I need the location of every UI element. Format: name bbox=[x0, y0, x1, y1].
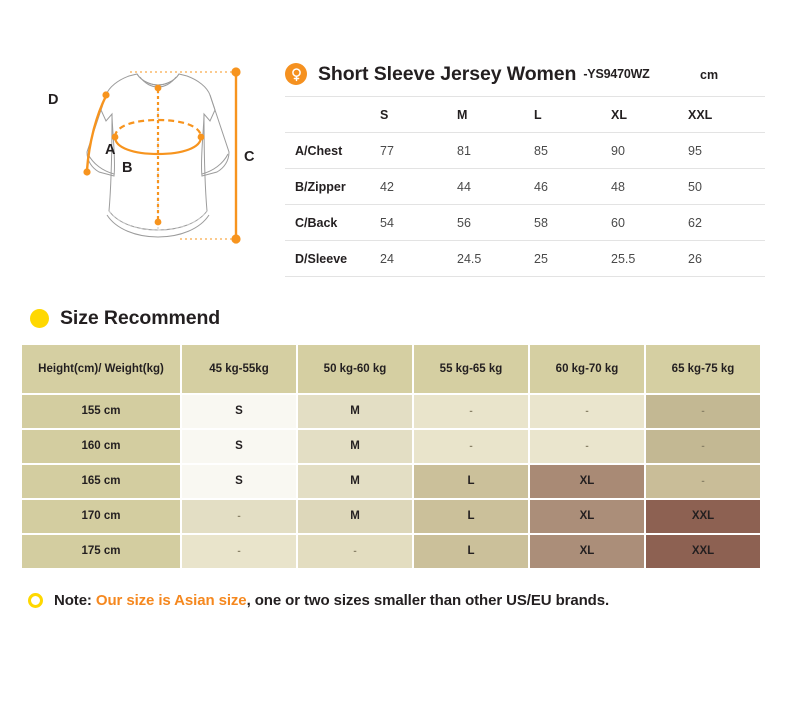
grid-cell-170-55: L bbox=[414, 500, 528, 533]
cell-sleeve-xxl: 26 bbox=[688, 241, 765, 277]
grid-cell-170-45: - bbox=[182, 500, 296, 533]
row-label-zipper: B/Zipper bbox=[285, 169, 380, 205]
grid-cell-165-65: - bbox=[646, 465, 760, 498]
size-recommend-heading: Size Recommend bbox=[30, 307, 220, 330]
grid-cell-160-50: M bbox=[298, 430, 412, 463]
cell-chest-xl: 90 bbox=[611, 133, 688, 169]
cell-chest-l: 85 bbox=[534, 133, 611, 169]
cell-back-s: 54 bbox=[380, 205, 457, 241]
yellow-ring-icon bbox=[28, 593, 43, 608]
grid-cell-165-50: M bbox=[298, 465, 412, 498]
cell-sleeve-xl: 25.5 bbox=[611, 241, 688, 277]
table-row: C/Back 54 56 58 60 62 bbox=[285, 205, 765, 241]
note-row: Note: Our size is Asian size, one or two… bbox=[28, 592, 609, 609]
diagram-label-a: A bbox=[105, 142, 116, 158]
row-label-sleeve: D/Sleeve bbox=[285, 241, 380, 277]
unit-label: cm bbox=[700, 68, 718, 82]
column-header-l: L bbox=[534, 97, 611, 133]
cell-chest-xxl: 95 bbox=[688, 133, 765, 169]
grid-cell-155-60: - bbox=[530, 395, 644, 428]
table-row: B/Zipper 42 44 46 48 50 bbox=[285, 169, 765, 205]
spec-title-row: Short Sleeve Jersey Women -YS9470WZ cm bbox=[285, 52, 765, 96]
size-recommend-grid: Height(cm)/ Weight(kg) 45 kg-55kg 50 kg-… bbox=[22, 345, 768, 568]
grid-height-label-155: 155 cm bbox=[22, 395, 180, 428]
cell-back-m: 56 bbox=[457, 205, 534, 241]
grid-cell-165-45: S bbox=[182, 465, 296, 498]
grid-cell-155-45: S bbox=[182, 395, 296, 428]
table-header-row: S M L XL XXL bbox=[285, 97, 765, 133]
header-corner bbox=[285, 97, 380, 133]
cell-back-xl: 60 bbox=[611, 205, 688, 241]
grid-cell-170-50: M bbox=[298, 500, 412, 533]
column-header-m: M bbox=[457, 97, 534, 133]
column-header-xl: XL bbox=[611, 97, 688, 133]
venus-female-icon bbox=[285, 63, 307, 85]
diagram-label-b: B bbox=[122, 160, 132, 176]
grid-cell-170-65: XXL bbox=[646, 500, 760, 533]
grid-cell-155-65: - bbox=[646, 395, 760, 428]
grid-height-label-165: 165 cm bbox=[22, 465, 180, 498]
cell-zipper-xxl: 50 bbox=[688, 169, 765, 205]
diagram-label-c: C bbox=[244, 149, 255, 165]
cell-chest-m: 81 bbox=[457, 133, 534, 169]
grid-cell-165-55: L bbox=[414, 465, 528, 498]
note-highlight: Our size is Asian size bbox=[96, 592, 247, 609]
grid-cell-165-60: XL bbox=[530, 465, 644, 498]
grid-cell-175-65: XXL bbox=[646, 535, 760, 568]
grid-height-label-160: 160 cm bbox=[22, 430, 180, 463]
model-code: -YS9470WZ bbox=[583, 67, 649, 81]
grid-cell-160-60: - bbox=[530, 430, 644, 463]
grid-height-label-170: 170 cm bbox=[22, 500, 180, 533]
grid-cell-160-65: - bbox=[646, 430, 760, 463]
spec-table-section: Short Sleeve Jersey Women -YS9470WZ cm S… bbox=[285, 52, 765, 277]
cell-sleeve-s: 24 bbox=[380, 241, 457, 277]
measurement-table: S M L XL XXL A/Chest 77 81 85 90 95 B/Zi… bbox=[285, 96, 765, 277]
grid-corner-label: Height(cm)/ Weight(kg) bbox=[22, 345, 180, 393]
diagram-label-d: D bbox=[48, 92, 58, 108]
cell-sleeve-l: 25 bbox=[534, 241, 611, 277]
section-title: Size Recommend bbox=[60, 307, 220, 330]
grid-cell-155-55: - bbox=[414, 395, 528, 428]
column-header-xxl: XXL bbox=[688, 97, 765, 133]
page-title: Short Sleeve Jersey Women bbox=[318, 63, 576, 86]
grid-cell-160-55: - bbox=[414, 430, 528, 463]
cell-chest-s: 77 bbox=[380, 133, 457, 169]
note-suffix: , one or two sizes smaller than other US… bbox=[247, 592, 609, 609]
grid-weight-header-5: 65 kg-75 kg bbox=[646, 345, 760, 393]
grid-cell-160-45: S bbox=[182, 430, 296, 463]
cell-zipper-s: 42 bbox=[380, 169, 457, 205]
grid-cell-155-50: M bbox=[298, 395, 412, 428]
note-text: Note: Our size is Asian size, one or two… bbox=[54, 592, 609, 609]
cell-zipper-xl: 48 bbox=[611, 169, 688, 205]
cell-zipper-m: 44 bbox=[457, 169, 534, 205]
table-row: A/Chest 77 81 85 90 95 bbox=[285, 133, 765, 169]
row-label-back: C/Back bbox=[285, 205, 380, 241]
column-header-s: S bbox=[380, 97, 457, 133]
grid-weight-header-2: 50 kg-60 kg bbox=[298, 345, 412, 393]
top-section: D A B C Short Sleeve Jersey Women -YS947… bbox=[0, 0, 790, 290]
grid-cell-175-50: - bbox=[298, 535, 412, 568]
row-label-chest: A/Chest bbox=[285, 133, 380, 169]
grid-height-label-175: 175 cm bbox=[22, 535, 180, 568]
table-row: D/Sleeve 24 24.5 25 25.5 26 bbox=[285, 241, 765, 277]
grid-weight-header-4: 60 kg-70 kg bbox=[530, 345, 644, 393]
jersey-measurement-diagram: D A B C bbox=[30, 48, 280, 280]
cell-zipper-l: 46 bbox=[534, 169, 611, 205]
grid-weight-header-1: 45 kg-55kg bbox=[182, 345, 296, 393]
grid-weight-header-3: 55 kg-65 kg bbox=[414, 345, 528, 393]
yellow-dot-icon bbox=[30, 309, 49, 328]
cell-back-l: 58 bbox=[534, 205, 611, 241]
note-prefix: Note: bbox=[54, 592, 96, 609]
grid-cell-175-45: - bbox=[182, 535, 296, 568]
cell-back-xxl: 62 bbox=[688, 205, 765, 241]
grid-cell-170-60: XL bbox=[530, 500, 644, 533]
cell-sleeve-m: 24.5 bbox=[457, 241, 534, 277]
grid-cell-175-60: XL bbox=[530, 535, 644, 568]
grid-cell-175-55: L bbox=[414, 535, 528, 568]
